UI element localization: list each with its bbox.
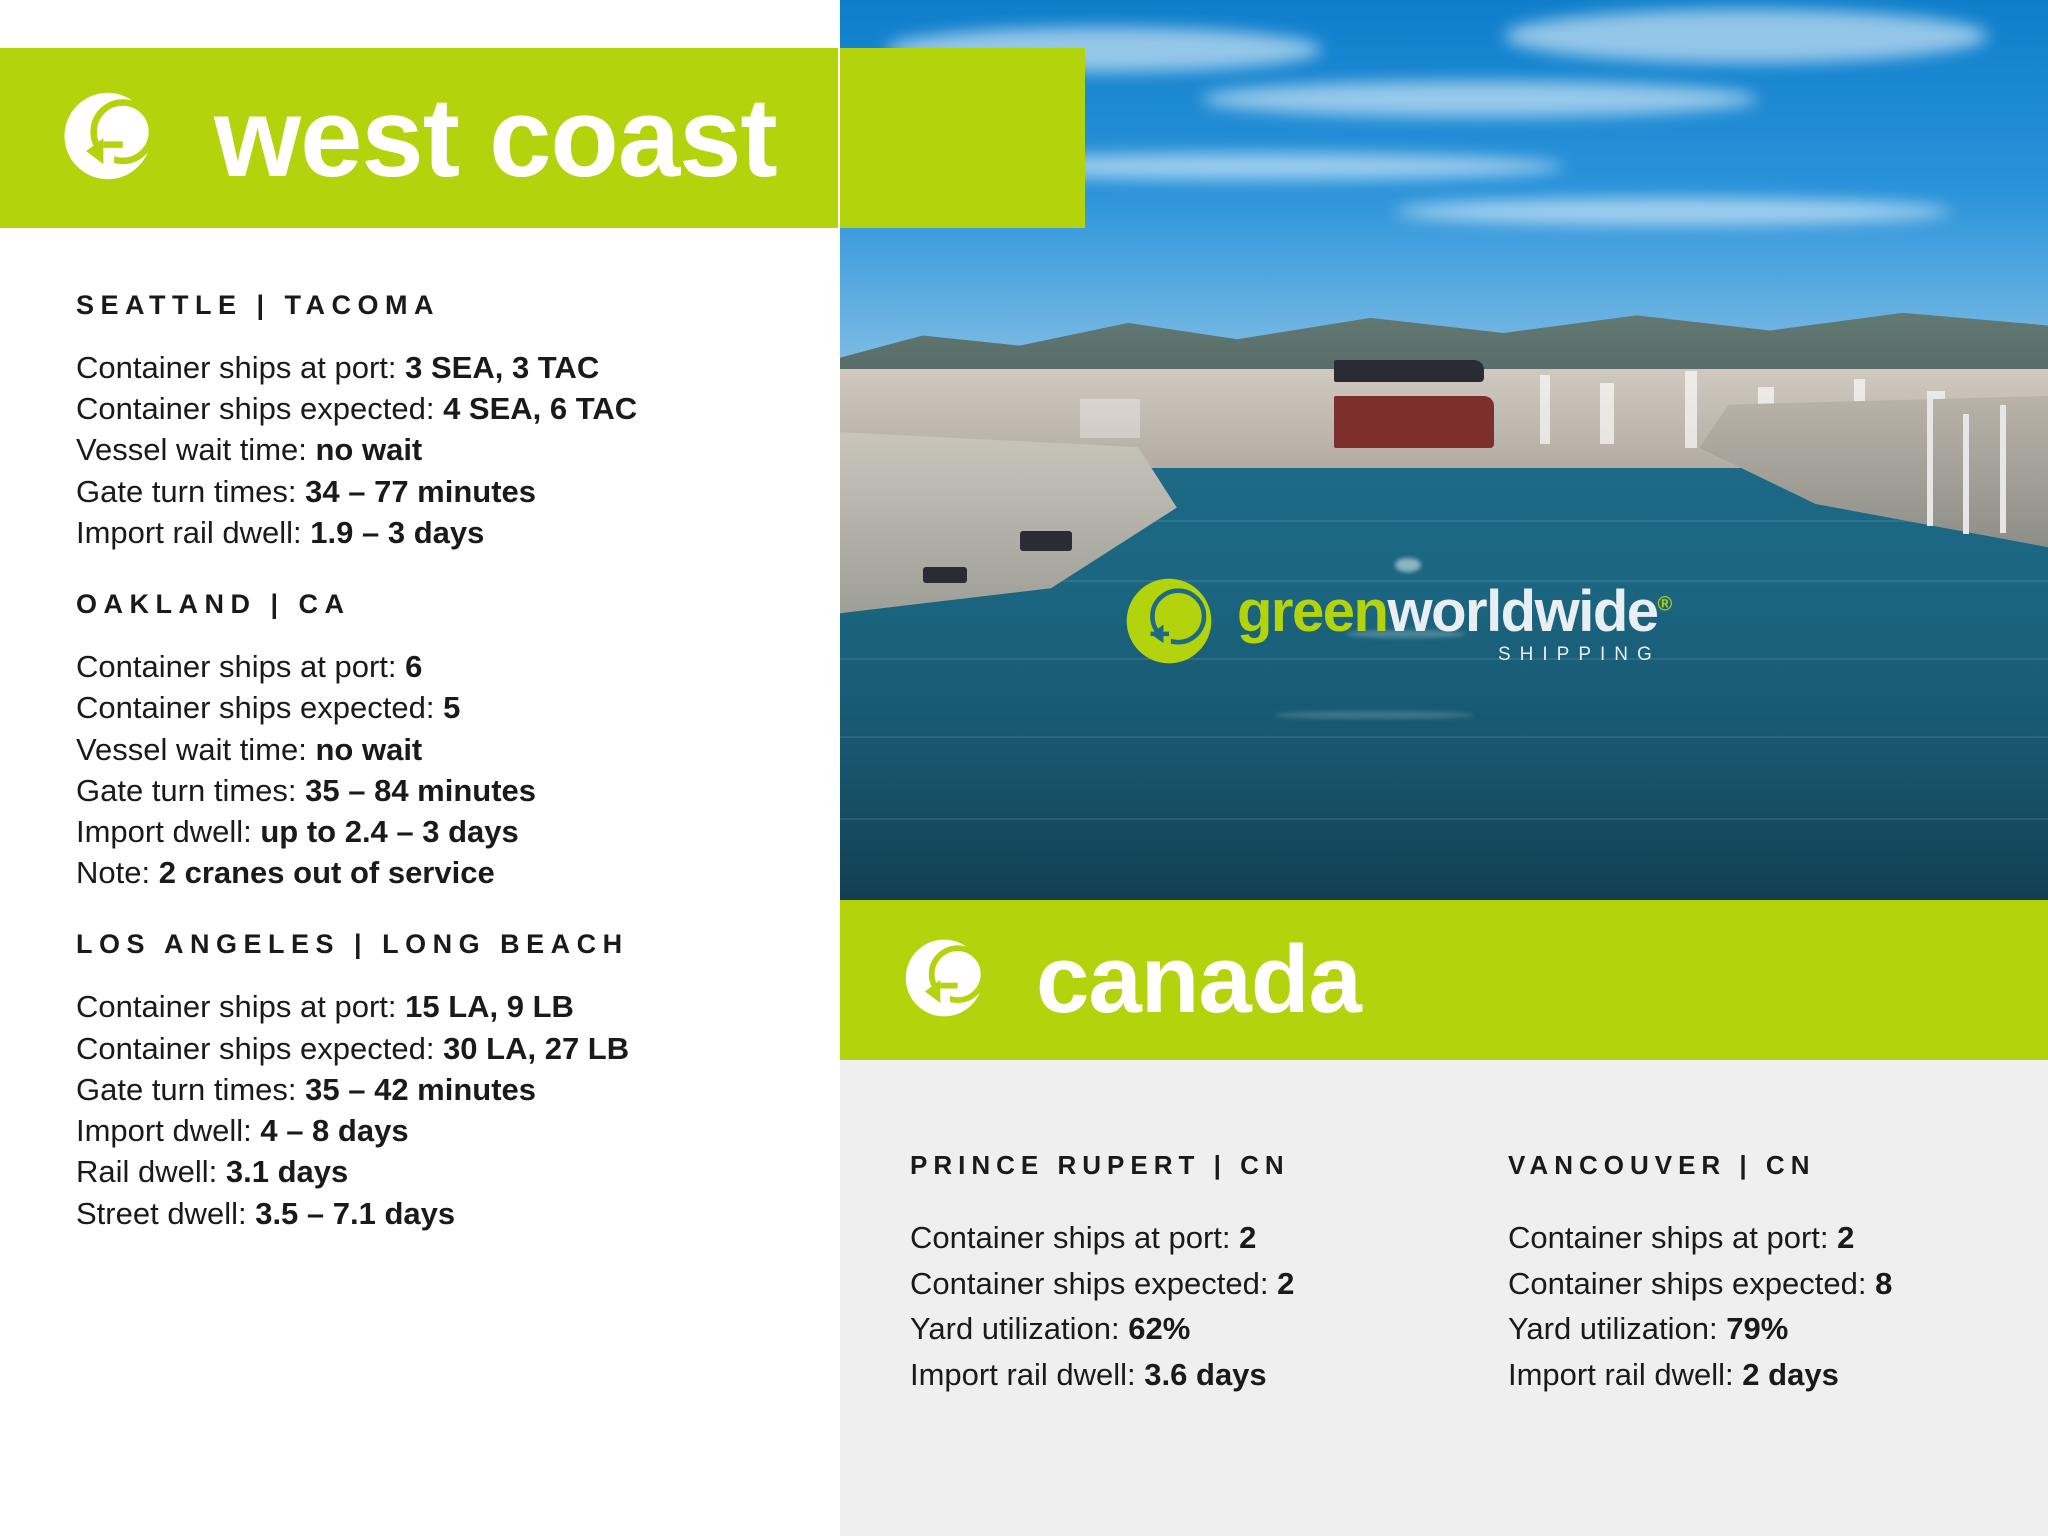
stat-label: Vessel wait time: <box>76 732 315 767</box>
port-block: LOS ANGELES | LONG BEACHContainer ships … <box>76 929 816 1233</box>
stat-row: Import dwell: 4 – 8 days <box>76 1110 816 1151</box>
stat-label: Import rail dwell: <box>76 515 310 550</box>
logo-word-green: green <box>1237 579 1387 644</box>
stat-label: Import dwell: <box>76 1113 260 1148</box>
cloud <box>1395 198 1952 225</box>
stat-value: 30 LA, 27 LB <box>443 1031 629 1066</box>
logo-word-worldwide: worldwide <box>1387 579 1657 644</box>
green-worldwide-logo-mark <box>900 930 996 1031</box>
tugboat <box>923 567 967 583</box>
canada-panel: PRINCE RUPERT | CNContainer ships at por… <box>838 1060 2048 1536</box>
container-ship <box>1334 396 1494 448</box>
canada-port-column: VANCOUVER | CNContainer ships at port: 2… <box>1508 1150 1988 1397</box>
cloud <box>1504 9 1988 63</box>
stat-row: Container ships at port: 6 <box>76 646 816 687</box>
stat-row: Container ships at port: 3 SEA, 3 TAC <box>76 347 816 388</box>
stat-value: 4 SEA, 6 TAC <box>443 391 637 426</box>
boat-wake <box>1395 558 1421 572</box>
boat-wake <box>1274 711 1474 719</box>
stat-label: Container ships expected: <box>76 690 443 725</box>
stat-value: 3.6 days <box>1144 1357 1266 1392</box>
stat-row: Yard utilization: 62% <box>910 1306 1390 1352</box>
stat-label: Import dwell: <box>76 814 260 849</box>
stat-row: Import rail dwell: 1.9 – 3 days <box>76 512 816 553</box>
stat-row: Yard utilization: 79% <box>1508 1306 1988 1352</box>
gantry-crane <box>1927 396 1933 526</box>
port-name: LOS ANGELES | LONG BEACH <box>76 929 816 960</box>
stat-label: Container ships expected: <box>910 1266 1277 1301</box>
stat-value: 2 days <box>1742 1357 1839 1392</box>
west-coast-banner: west coast <box>0 48 1085 228</box>
west-coast-banner-title: west coast <box>214 82 777 194</box>
stat-value: no wait <box>315 732 422 767</box>
stat-label: Gate turn times: <box>76 474 305 509</box>
stat-row: Import rail dwell: 2 days <box>1508 1352 1988 1398</box>
cloud <box>1201 81 1758 117</box>
column-divider <box>838 0 840 1536</box>
canada-banner-title: canada <box>1036 932 1361 1028</box>
stat-value: no wait <box>315 432 422 467</box>
stat-label: Rail dwell: <box>76 1154 226 1189</box>
stat-label: Vessel wait time: <box>76 432 315 467</box>
stat-row: Container ships at port: 15 LA, 9 LB <box>76 986 816 1027</box>
tugboat <box>1020 531 1072 551</box>
stat-value: 8 <box>1875 1266 1892 1301</box>
west-coast-port-list: SEATTLE | TACOMAContainer ships at port:… <box>76 290 816 1234</box>
container-ship-deck <box>1334 360 1484 382</box>
port-name: SEATTLE | TACOMA <box>76 290 816 321</box>
stat-value: 15 LA, 9 LB <box>405 989 574 1024</box>
green-worldwide-logo-mark <box>58 82 166 195</box>
stat-label: Yard utilization: <box>910 1311 1128 1346</box>
port-name: PRINCE RUPERT | CN <box>910 1150 1390 1181</box>
stat-label: Gate turn times: <box>76 773 305 808</box>
port-block: SEATTLE | TACOMAContainer ships at port:… <box>76 290 816 553</box>
stat-row: Note: 2 cranes out of service <box>76 852 816 893</box>
stat-label: Container ships expected: <box>76 391 443 426</box>
stat-row: Container ships expected: 2 <box>910 1261 1390 1307</box>
stat-row: Container ships expected: 30 LA, 27 LB <box>76 1028 816 1069</box>
port-block: OAKLAND | CAContainer ships at port: 6Co… <box>76 589 816 893</box>
logo-wordmark: greenworldwide® SHIPPING <box>1237 583 1671 664</box>
stat-value: 5 <box>443 690 460 725</box>
green-worldwide-logo-mark <box>1123 575 1215 672</box>
stat-row: Container ships at port: 2 <box>1508 1215 1988 1261</box>
stat-row: Vessel wait time: no wait <box>76 729 816 770</box>
gantry-crane <box>1963 414 1969 534</box>
stat-label: Import rail dwell: <box>1508 1357 1742 1392</box>
stat-label: Yard utilization: <box>1508 1311 1726 1346</box>
canada-port-column: PRINCE RUPERT | CNContainer ships at por… <box>910 1150 1390 1397</box>
stat-row: Container ships expected: 5 <box>76 687 816 728</box>
stat-value: 3 SEA, 3 TAC <box>405 350 599 385</box>
stat-label: Import rail dwell: <box>910 1357 1144 1392</box>
stat-value: 2 <box>1837 1220 1854 1255</box>
stat-label: Note: <box>76 855 159 890</box>
stat-row: Container ships expected: 8 <box>1508 1261 1988 1307</box>
logo-subtitle: SHIPPING <box>1237 645 1671 664</box>
stat-value: 2 cranes out of service <box>159 855 495 890</box>
stat-value: 79% <box>1726 1311 1788 1346</box>
stat-label: Container ships expected: <box>1508 1266 1875 1301</box>
stat-value: 3.5 – 7.1 days <box>255 1196 455 1231</box>
stat-value: 3.1 days <box>226 1154 348 1189</box>
west-coast-column: SEATTLE | TACOMAContainer ships at port:… <box>0 0 838 1536</box>
stat-value: 62% <box>1128 1311 1190 1346</box>
registered-mark-icon: ® <box>1658 594 1671 616</box>
stat-label: Container ships at port: <box>76 989 405 1024</box>
canada-port-columns: PRINCE RUPERT | CNContainer ships at por… <box>910 1150 2008 1397</box>
stat-row: Container ships expected: 4 SEA, 6 TAC <box>76 388 816 429</box>
stat-row: Import rail dwell: 3.6 days <box>910 1352 1390 1398</box>
stat-row: Rail dwell: 3.1 days <box>76 1151 816 1192</box>
stat-label: Container ships at port: <box>76 649 405 684</box>
stat-value: 34 – 77 minutes <box>305 474 536 509</box>
port-name: OAKLAND | CA <box>76 589 816 620</box>
canada-banner: canada <box>838 900 2048 1060</box>
stat-value: 35 – 84 minutes <box>305 773 536 808</box>
port-status-infographic: SEATTLE | TACOMAContainer ships at port:… <box>0 0 2048 1536</box>
port-name: VANCOUVER | CN <box>1508 1150 1988 1181</box>
stat-value: up to 2.4 – 3 days <box>260 814 518 849</box>
gantry-crane <box>2000 405 2006 533</box>
stat-label: Container ships at port: <box>1508 1220 1837 1255</box>
stat-row: Gate turn times: 35 – 42 minutes <box>76 1069 816 1110</box>
stat-value: 2 <box>1239 1220 1256 1255</box>
stat-row: Gate turn times: 34 – 77 minutes <box>76 471 816 512</box>
stat-label: Street dwell: <box>76 1196 255 1231</box>
stat-row: Street dwell: 3.5 – 7.1 days <box>76 1193 816 1234</box>
stat-value: 6 <box>405 649 422 684</box>
stat-label: Container ships expected: <box>76 1031 443 1066</box>
stat-value: 1.9 – 3 days <box>310 515 484 550</box>
stat-value: 4 – 8 days <box>260 1113 408 1148</box>
stat-row: Vessel wait time: no wait <box>76 429 816 470</box>
stat-label: Gate turn times: <box>76 1072 305 1107</box>
stat-row: Import dwell: up to 2.4 – 3 days <box>76 811 816 852</box>
stat-label: Container ships at port: <box>76 350 405 385</box>
stat-value: 35 – 42 minutes <box>305 1072 536 1107</box>
stat-row: Container ships at port: 2 <box>910 1215 1390 1261</box>
stat-value: 2 <box>1277 1266 1294 1301</box>
stat-row: Gate turn times: 35 – 84 minutes <box>76 770 816 811</box>
greenworldwide-watermark-logo: greenworldwide® SHIPPING <box>1123 575 1671 672</box>
stat-label: Container ships at port: <box>910 1220 1239 1255</box>
